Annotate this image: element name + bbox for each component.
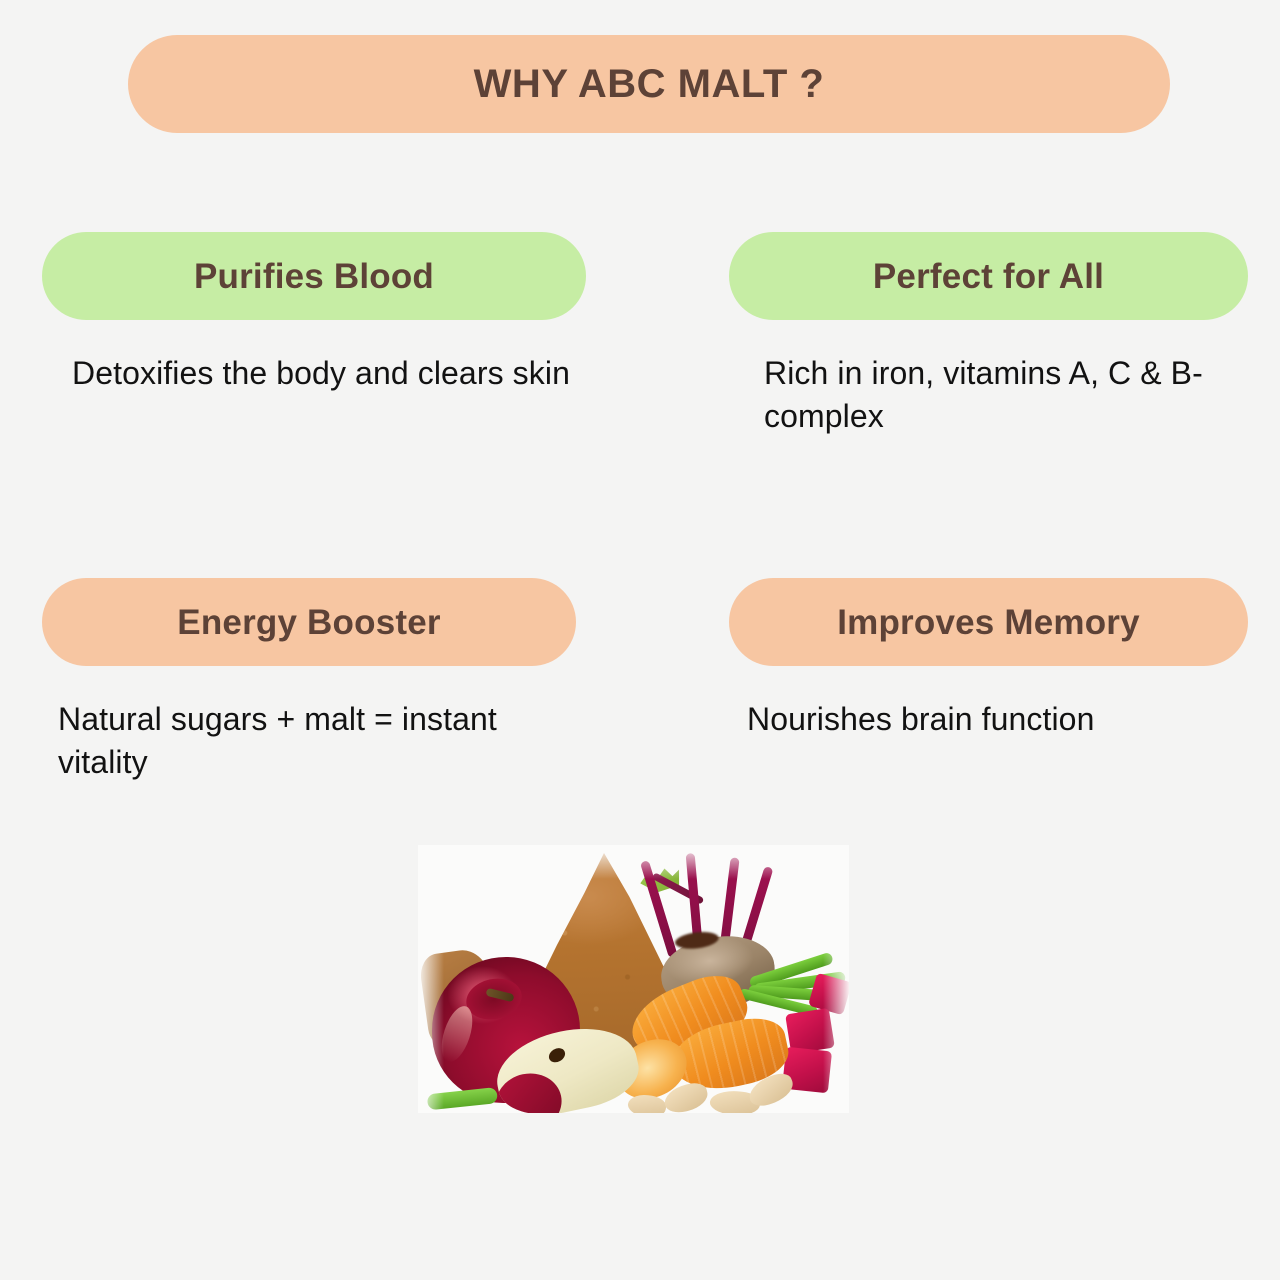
benefit-card-purifies-blood: Purifies Blood Detoxifies the body and c… [42,232,586,395]
benefit-pill-energy-booster: Energy Booster [42,578,576,666]
product-ingredients-image [418,845,849,1113]
benefit-description-perfect-for-all: Rich in iron, vitamins A, C & B-complex [764,352,1254,438]
benefit-label-energy-booster: Energy Booster [177,605,440,640]
photo-stage [418,845,849,1113]
benefit-label-improves-memory: Improves Memory [837,605,1140,640]
benefit-description-purifies-blood: Detoxifies the body and clears skin [72,352,592,395]
poster-canvas: WHY ABC MALT ? Purifies Blood Detoxifies… [0,0,1280,1280]
benefit-pill-improves-memory: Improves Memory [729,578,1248,666]
benefit-card-perfect-for-all: Perfect for All Rich in iron, vitamins A… [729,232,1248,438]
benefit-pill-perfect-for-all: Perfect for All [729,232,1248,320]
leaf-garnish-shape [427,1087,498,1110]
benefit-card-energy-booster: Energy Booster Natural sugars + malt = i… [42,578,576,784]
benefit-description-energy-booster: Natural sugars + malt = instant vitality [58,698,578,784]
benefit-label-purifies-blood: Purifies Blood [194,259,434,294]
apple-slice-skin-shape [490,1067,567,1113]
apple-seed-shape [546,1045,567,1065]
benefit-description-improves-memory: Nourishes brain function [747,698,1247,741]
benefit-label-perfect-for-all: Perfect for All [873,259,1104,294]
benefit-pill-purifies-blood: Purifies Blood [42,232,586,320]
benefit-card-improves-memory: Improves Memory Nourishes brain function [729,578,1248,741]
